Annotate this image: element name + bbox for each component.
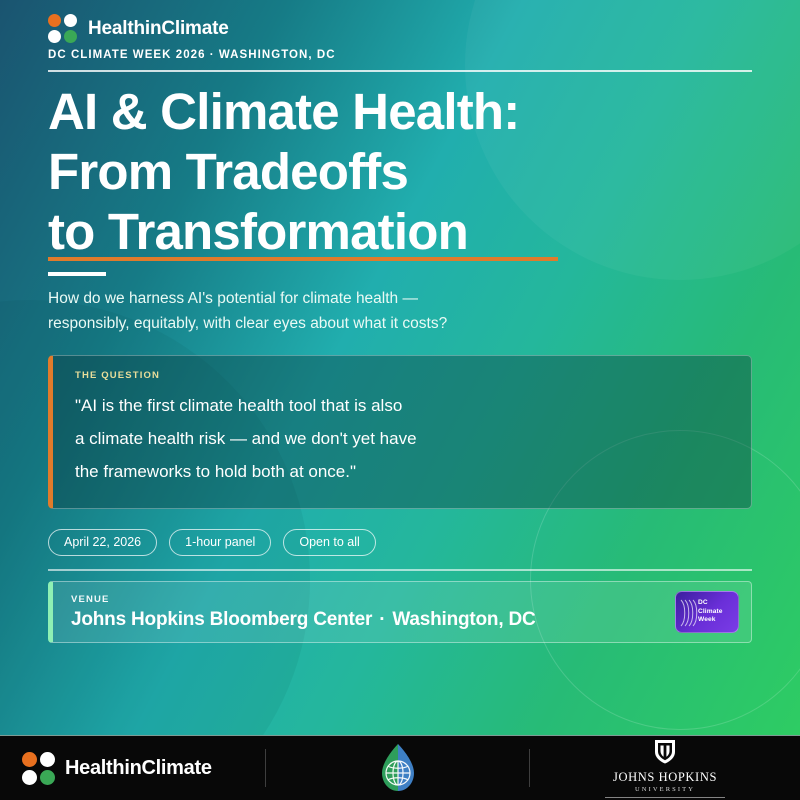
footer-brand-cell: HealthinClimate: [0, 736, 265, 800]
pill-access[interactable]: Open to all: [283, 529, 375, 556]
footer-healthinclimate-logo-icon: [22, 752, 55, 785]
event-kicker: DC CLIMATE WEEK 2026 · WASHINGTON, DC: [48, 49, 752, 61]
footer-logo-dot-orange: [22, 752, 37, 767]
headline-underline-orange: [48, 257, 558, 261]
deck-line-1: How do we harness AI's potential for cli…: [48, 290, 418, 307]
header-divider: [48, 70, 752, 72]
hopkins-rule: [605, 797, 725, 798]
pill-date[interactable]: April 22, 2026: [48, 529, 157, 556]
event-poster: HealthinClimate DC CLIMATE WEEK 2026 · W…: [0, 0, 800, 800]
brand-lockup: HealthinClimate: [48, 14, 752, 43]
venue-divider: [48, 569, 752, 571]
venue-card: VENUE Johns Hopkins Bloomberg Center·Was…: [48, 581, 752, 643]
dc-climate-week-badge[interactable]: DC Climate Week: [675, 591, 739, 633]
headline-line-3: to Transformation: [48, 202, 468, 262]
venue-label: VENUE: [71, 594, 675, 605]
logo-dot-orange: [48, 14, 61, 27]
quote-label: THE QUESTION: [75, 370, 729, 381]
venue-name-row: Johns Hopkins Bloomberg Center·Washingto…: [71, 609, 675, 631]
page-title: AI & Climate Health: From Tradeoffs to T…: [48, 82, 760, 263]
footer-brand-name: HealthinClimate: [65, 757, 212, 780]
subtitle-deck: How do we harness AI's potential for cli…: [48, 286, 650, 336]
headline-underline-white: [48, 272, 106, 276]
healthinclimate-logo-icon: [48, 14, 77, 43]
venue-text-block: VENUE Johns Hopkins Bloomberg Center·Was…: [71, 594, 675, 631]
footer-partner-cell: [266, 736, 529, 800]
logo-dot-white-2: [48, 30, 61, 43]
footer-logo-dot-green: [40, 770, 55, 785]
quote-text: "AI is the first climate health tool tha…: [75, 390, 729, 488]
badge-line-1: DC: [698, 599, 723, 607]
poster-header: HealthinClimate DC CLIMATE WEEK 2026 · W…: [48, 14, 752, 72]
footer-logo-dot-white-2: [22, 770, 37, 785]
footer-brand-lockup: HealthinClimate: [22, 752, 212, 785]
pill-duration[interactable]: 1-hour panel: [169, 529, 271, 556]
footer-university-cell: JOHNS HOPKINS UNIVERSITY: [530, 736, 800, 800]
hopkins-name: JOHNS HOPKINS: [605, 770, 725, 785]
quote-line-1: "AI is the first climate health tool tha…: [75, 396, 402, 415]
logo-dot-green: [64, 30, 77, 43]
hopkins-sub: UNIVERSITY: [605, 786, 725, 793]
shield-icon: [654, 739, 676, 764]
wave-pattern-icon: [679, 599, 699, 627]
poster-footer: HealthinClimate: [0, 735, 800, 800]
footer-logo-dot-white-1: [40, 752, 55, 767]
leaf-globe-icon: [376, 742, 420, 794]
venue-name: Johns Hopkins Bloomberg Center: [71, 609, 372, 630]
dc-climate-week-text: DC Climate Week: [698, 599, 723, 624]
deck-line-2: responsibly, equitably, with clear eyes …: [48, 315, 447, 332]
venue-separator: ·: [379, 609, 385, 630]
brand-name: HealthinClimate: [88, 18, 229, 40]
badge-line-3: Week: [698, 616, 723, 624]
quote-card: THE QUESTION "AI is the first climate he…: [48, 355, 752, 509]
event-meta-pills: April 22, 2026 1-hour panel Open to all: [48, 529, 376, 556]
quote-line-2: a climate health risk — and we don't yet…: [75, 429, 417, 448]
headline-line-1: AI & Climate Health:: [48, 83, 519, 140]
venue-city: Washington, DC: [392, 609, 535, 630]
quote-line-3: the frameworks to hold both at once.": [75, 462, 356, 481]
logo-dot-white-1: [64, 14, 77, 27]
badge-line-2: Climate: [698, 608, 723, 616]
headline-line-2: From Tradeoffs: [48, 143, 408, 200]
johns-hopkins-lockup: JOHNS HOPKINS UNIVERSITY: [605, 739, 725, 798]
